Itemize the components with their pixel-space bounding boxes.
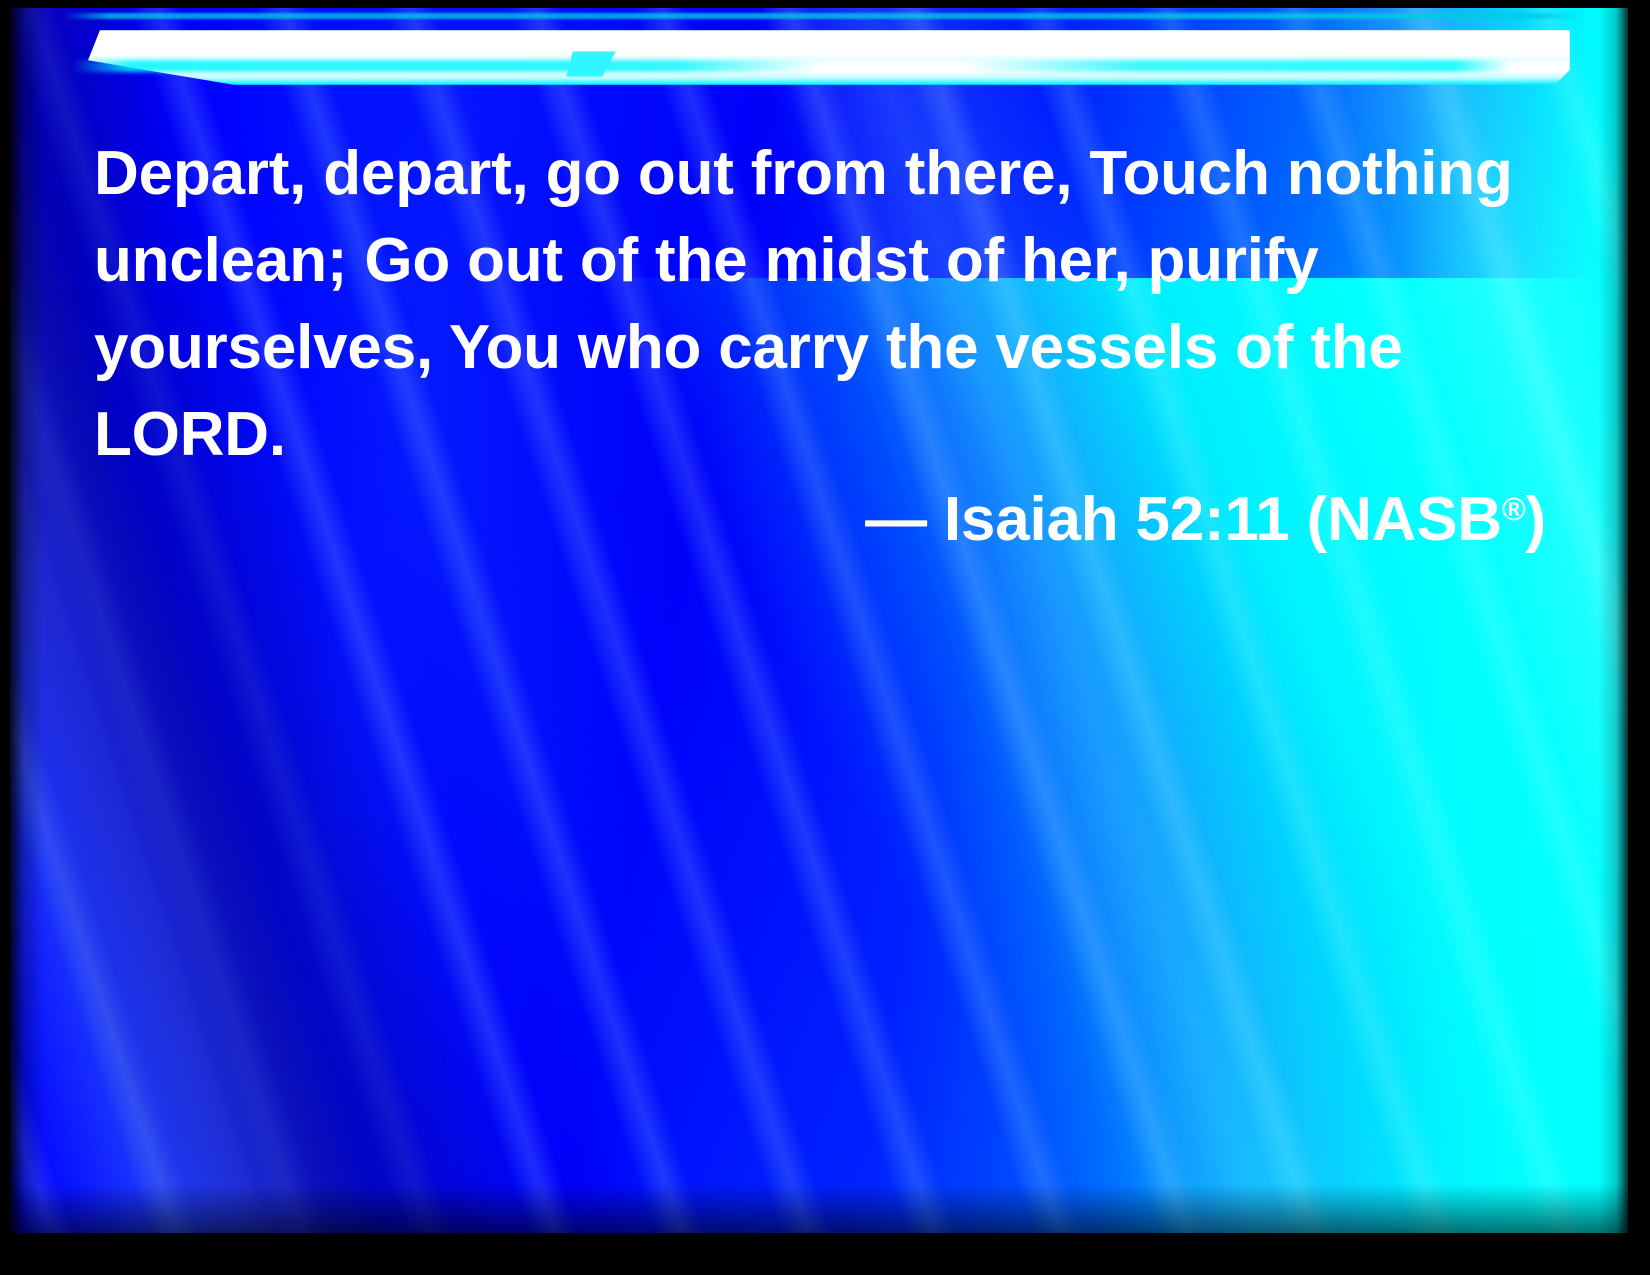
banner-top-cyan-line: [64, 13, 1584, 19]
registered-trademark-icon: ®: [1502, 491, 1526, 527]
attribution-suffix: ): [1526, 485, 1546, 554]
banner-cyan-streak: [72, 60, 1512, 72]
verse-attribution: — Isaiah 52:11 (NASB®): [94, 470, 1546, 559]
attribution-prefix: — Isaiah 52:11 (NASB: [865, 485, 1502, 554]
bible-verse-slide: Depart, depart, go out from there, Touch…: [0, 0, 1650, 1275]
top-white-banner: [70, 30, 1570, 85]
verse-text: Depart, depart, go out from there, Touch…: [94, 130, 1514, 478]
background-artwork: Depart, depart, go out from there, Touch…: [10, 8, 1628, 1233]
